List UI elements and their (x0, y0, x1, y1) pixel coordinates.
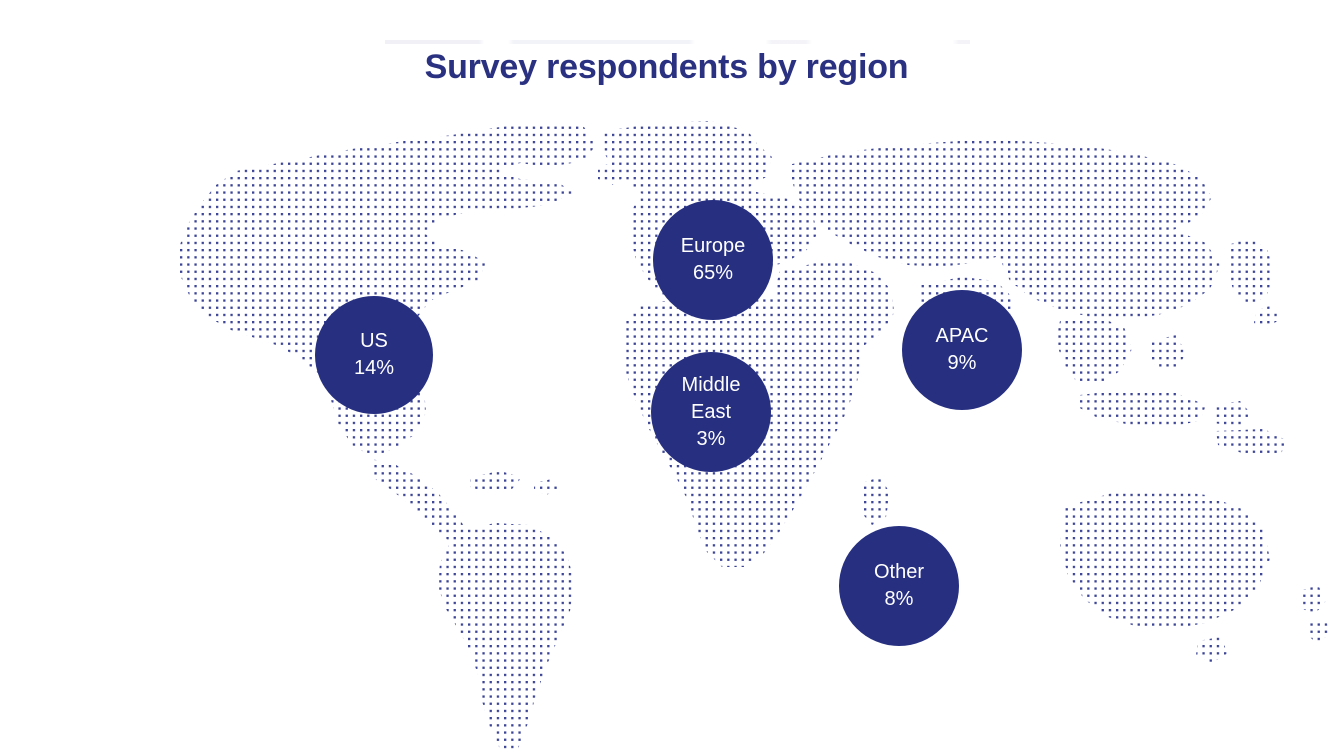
bubble-europe[interactable]: Europe 65% (653, 200, 773, 320)
bubble-europe-label: Europe (681, 233, 746, 260)
bubble-apac-label: APAC (936, 323, 989, 350)
bubble-europe-text: Europe 65% (675, 233, 752, 287)
bubble-middle-east-label: Middle East (674, 372, 748, 426)
bubble-us[interactable]: US 14% (315, 296, 433, 414)
bubble-middle-east-text: Middle East 3% (668, 372, 754, 453)
top-edge-artifact (385, 40, 970, 44)
bubble-us-value: 14% (354, 355, 394, 382)
bubble-other[interactable]: Other 8% (839, 526, 959, 646)
bubble-middle-east[interactable]: Middle East 3% (651, 352, 771, 472)
bubble-us-label: US (354, 328, 394, 355)
bubble-other-text: Other 8% (868, 559, 930, 613)
bubble-apac-value: 9% (936, 350, 989, 377)
slide-canvas: Survey respondents by region (0, 0, 1333, 750)
bubble-apac-text: APAC 9% (930, 323, 995, 377)
bubble-us-text: US 14% (348, 328, 400, 382)
page-title: Survey respondents by region (0, 48, 1333, 87)
bubble-other-label: Other (874, 559, 924, 586)
bubble-middle-east-value: 3% (674, 426, 748, 453)
bubble-other-value: 8% (874, 586, 924, 613)
bubble-europe-value: 65% (681, 260, 746, 287)
bubble-apac[interactable]: APAC 9% (902, 290, 1022, 410)
